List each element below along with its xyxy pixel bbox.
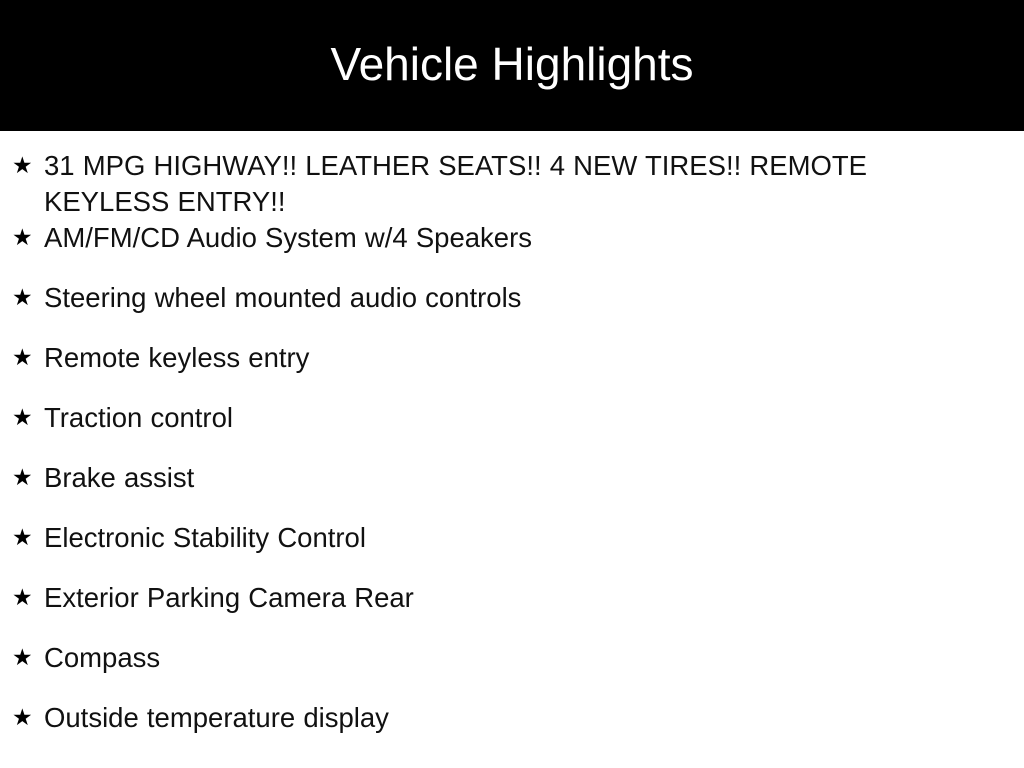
list-item: ★ Steering wheel mounted audio controls xyxy=(0,280,1024,340)
list-item: ★ Traction control xyxy=(0,400,1024,460)
vehicle-highlights-page: Vehicle Highlights ★ 31 MPG HIGHWAY!! LE… xyxy=(0,0,1024,768)
star-bullet-icon: ★ xyxy=(12,580,44,616)
star-bullet-icon: ★ xyxy=(12,520,44,556)
star-bullet-icon: ★ xyxy=(12,460,44,496)
list-item-label: Outside temperature display xyxy=(44,700,944,736)
list-item: ★ Remote keyless entry xyxy=(0,340,1024,400)
list-item: ★ Electronic Stability Control xyxy=(0,520,1024,580)
list-item-label: Electronic Stability Control xyxy=(44,520,944,556)
star-bullet-icon: ★ xyxy=(12,280,44,316)
star-bullet-icon: ★ xyxy=(12,400,44,436)
page-title: Vehicle Highlights xyxy=(330,41,693,87)
star-bullet-icon: ★ xyxy=(12,148,44,184)
list-item-label: Brake assist xyxy=(44,460,944,496)
list-item: ★ AM/FM/CD Audio System w/4 Speakers xyxy=(0,220,1024,280)
list-item-label: AM/FM/CD Audio System w/4 Speakers xyxy=(44,220,944,256)
list-item: ★ Compass xyxy=(0,640,1024,700)
vehicle-highlights-list: ★ 31 MPG HIGHWAY!! LEATHER SEATS!! 4 NEW… xyxy=(0,131,1024,760)
list-item: ★ Outside temperature display xyxy=(0,700,1024,760)
list-item: ★ Brake assist xyxy=(0,460,1024,520)
star-bullet-icon: ★ xyxy=(12,340,44,376)
list-item-label: Remote keyless entry xyxy=(44,340,944,376)
header-banner: Vehicle Highlights xyxy=(0,0,1024,131)
list-item: ★ Exterior Parking Camera Rear xyxy=(0,580,1024,640)
list-item: ★ 31 MPG HIGHWAY!! LEATHER SEATS!! 4 NEW… xyxy=(0,148,1024,220)
list-item-label: 31 MPG HIGHWAY!! LEATHER SEATS!! 4 NEW T… xyxy=(44,148,944,220)
list-item-label: Traction control xyxy=(44,400,944,436)
star-bullet-icon: ★ xyxy=(12,640,44,676)
list-item-label: Exterior Parking Camera Rear xyxy=(44,580,944,616)
star-bullet-icon: ★ xyxy=(12,220,44,256)
list-item-label: Compass xyxy=(44,640,944,676)
list-item-label: Steering wheel mounted audio controls xyxy=(44,280,944,316)
star-bullet-icon: ★ xyxy=(12,700,44,736)
